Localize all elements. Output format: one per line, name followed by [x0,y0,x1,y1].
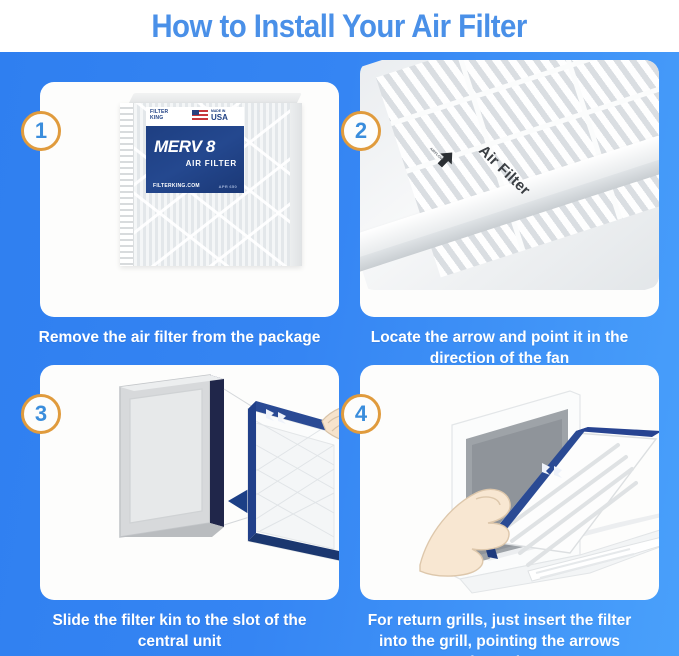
brand-line-2: KING [150,115,163,121]
air-filter-product-photo: FILTER KING MADE IN USA MERV 8 AIR FILTE… [120,93,302,268]
step-3-caption-line-1: Slide the filter kin to the slot of the [20,610,339,631]
step-3-image-card [40,365,339,600]
step-card-4: 4 For return grills, just insert the fil… [340,365,659,645]
step-2-caption-line-1: Locate the arrow and point it in the [340,327,659,348]
filter-king-logo: FILTER KING [150,110,168,121]
filter-right-edge [290,103,302,266]
step-1-image-card: FILTER KING MADE IN USA MERV 8 AIR FILTE… [40,82,339,317]
central-unit-box [120,375,224,537]
step-number-3: 3 [35,403,47,425]
step-3-caption: Slide the filter kin to the slot of the … [20,610,339,652]
step-number-badge-4: 4 [341,394,381,434]
step-4-caption-line-2: into the grill, pointing the arrows [340,631,659,652]
step-card-1: FILTER KING MADE IN USA MERV 8 AIR FILTE… [20,82,339,347]
step-4-image-card [360,365,659,600]
step-card-2: AIRFLOW Air Filter 2 Locate the arrow an… [340,82,659,347]
air-filter-text: AIR FILTER [186,159,237,168]
merv-rating-text: MERV 8 [154,137,215,157]
header-bar: How to Install Your Air Filter [0,0,679,52]
step-number-badge-2: 2 [341,111,381,151]
usa-flag-icon [192,110,208,120]
step-number-badge-3: 3 [21,394,61,434]
step-number-4: 4 [355,403,367,425]
usa-label: USA [211,113,228,122]
filter-left-edge [120,103,134,266]
step-2-caption: Locate the arrow and point it in the dir… [340,327,659,369]
step-3-caption-line-2: central unit [20,631,339,652]
filter-sliding-into-central-unit-illustration [40,365,339,600]
step-number-badge-1: 1 [21,111,61,151]
step-4-caption-line-1: For return grills, just insert the filte… [340,610,659,631]
made-in-usa-text: MADE IN USA [211,109,228,122]
step-2-image-card: AIRFLOW Air Filter [360,82,659,317]
infographic-page: How to Install Your Air Filter [0,0,679,656]
step-1-caption-line-1: Remove the air filter from the package [20,327,339,348]
step-4-caption-line-3: inwards [340,652,659,656]
air-filter-edge-arrow-photo: AIRFLOW Air Filter [360,60,659,290]
filter-product-label: FILTER KING MADE IN USA MERV 8 AIR FILTE… [146,107,244,193]
step-number-2: 2 [355,120,367,142]
website-text: FILTERKING.COM [153,183,200,189]
step-card-3: 3 Slide the filter kin to the slot of th… [20,365,339,645]
apr-rating-text: APR 650 [219,184,237,189]
step-4-caption: For return grills, just insert the filte… [340,610,659,656]
filter-inserted-into-return-grille-illustration [360,365,659,600]
step-number-1: 1 [35,120,47,142]
steps-grid: FILTER KING MADE IN USA MERV 8 AIR FILTE… [0,52,679,656]
page-title: How to Install Your Air Filter [152,8,527,45]
step-1-caption: Remove the air filter from the package [20,327,339,348]
steps-board: FILTER KING MADE IN USA MERV 8 AIR FILTE… [0,52,679,656]
